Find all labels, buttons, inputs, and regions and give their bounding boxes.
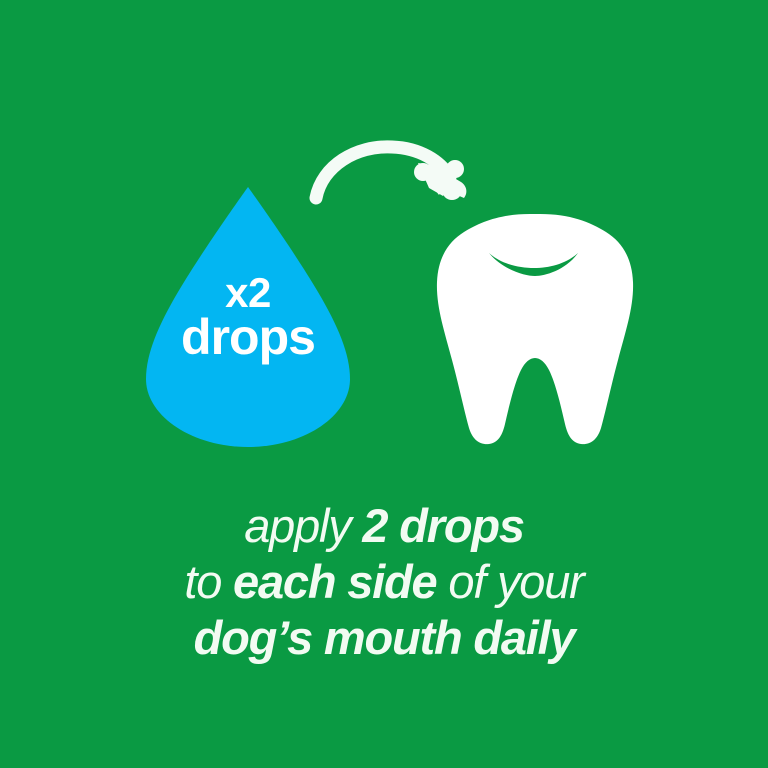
droplet-label-line-1: x2 <box>148 272 348 313</box>
arrow-head-top-round <box>446 160 464 178</box>
caption-segment: 2 drops <box>362 499 523 552</box>
caption-line: dog’s mouth daily <box>0 610 768 666</box>
droplet-label: x2 drops <box>148 272 348 362</box>
caption-segment: each side <box>233 555 436 608</box>
instruction-caption: apply 2 dropsto each side of yourdog’s m… <box>0 498 768 666</box>
instruction-infographic: x2 drops apply 2 dropsto each side of yo… <box>0 0 768 768</box>
arrow-head-tip-round <box>442 180 462 200</box>
caption-line: to each side of your <box>0 554 768 610</box>
caption-segment: to <box>184 555 233 608</box>
caption-segment: dog’s mouth daily <box>194 611 575 664</box>
caption-segment: apply <box>244 499 362 552</box>
caption-segment: of your <box>436 555 583 608</box>
arrow-head-corner-round <box>414 163 432 181</box>
illustration-stage <box>0 0 768 470</box>
molar-tooth-icon <box>437 214 633 444</box>
caption-line: apply 2 drops <box>0 498 768 554</box>
droplet-label-line-2: drops <box>148 313 348 362</box>
